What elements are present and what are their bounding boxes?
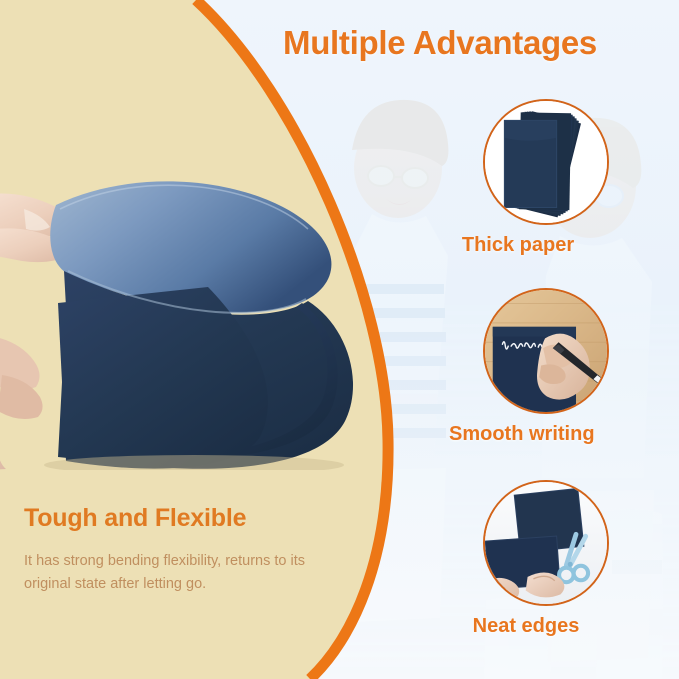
thick-paper-badge-circle: [483, 99, 609, 225]
smooth-writing-badge-circle: [483, 288, 609, 414]
sheets-with-scissors-icon: [485, 482, 607, 604]
page-title: Multiple Advantages: [283, 24, 673, 62]
infographic-canvas: Multiple Advantages Tough and Flexible I…: [0, 0, 679, 679]
feature-label-neat-edges: Neat edges: [463, 615, 589, 638]
left-panel-body: It has strong bending flexibility, retur…: [24, 550, 344, 596]
product-photo-bending-sheet: [0, 175, 374, 470]
left-panel-title: Tough and Flexible: [24, 504, 354, 533]
stack-of-navy-paper-sheets-icon: [485, 101, 607, 223]
neat-edges-badge-circle: [483, 480, 609, 606]
feature-thick-paper[interactable]: Thick paper: [483, 99, 609, 257]
feature-neat-edges[interactable]: Neat edges: [483, 480, 609, 638]
hand-writing-on-navy-paper-icon: [485, 290, 607, 412]
feature-label-smooth-writing: Smooth writing: [449, 423, 575, 446]
feature-smooth-writing[interactable]: Smooth writing: [483, 288, 609, 446]
feature-label-thick-paper: Thick paper: [455, 234, 581, 257]
